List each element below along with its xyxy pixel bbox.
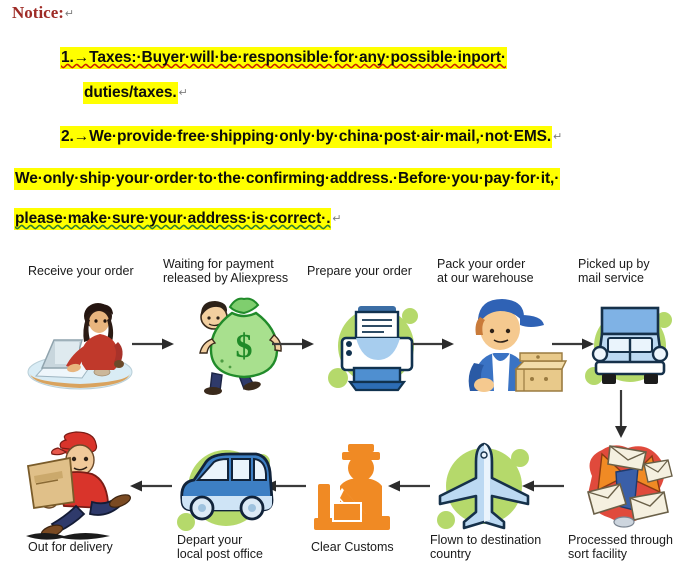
svg-text:$: $ <box>236 328 253 365</box>
notice-heading-text: Notice: <box>12 3 64 22</box>
delivery-runner-icon <box>14 432 134 542</box>
mail-sort-icon <box>572 436 678 536</box>
printer-icon <box>322 298 426 398</box>
flow-arrow-left-4 <box>128 480 172 492</box>
notice-line-1: 1.→Taxes:·Buyer·will·be·responsible·for·… <box>60 49 507 67</box>
notice-line-4-text: We·only·ship·your·order·to·the·confirmin… <box>14 168 560 190</box>
shipping-process-flowchart: Receive your order Waiting for payment r… <box>0 250 685 586</box>
flow-label-clear-customs: Clear Customs <box>311 540 421 554</box>
flow-label-depart-local-post-office: Depart your local post office <box>177 533 297 561</box>
airplane-icon <box>432 438 536 538</box>
pilcrow-mark-2: ↵ <box>179 87 188 99</box>
flow-label-processed-sort-facility: Processed through sort facility <box>568 533 685 561</box>
notice-line-2-text: duties/taxes. <box>83 82 178 104</box>
pilcrow-mark: ↵ <box>65 8 74 20</box>
notice-line-4: We·only·ship·your·order·to·the·confirmin… <box>14 170 560 188</box>
flow-label-out-for-delivery: Out for delivery <box>28 540 148 554</box>
notice-line-3-text: 2.→We·provide·free·shipping·only·by·chin… <box>60 126 552 148</box>
flow-arrow-right-1 <box>132 338 174 350</box>
flow-arrow-right-3 <box>412 338 454 350</box>
flow-arrow-right-2 <box>272 338 314 350</box>
notice-line-5-text: please·make·sure·your·address·is·correct… <box>14 208 331 230</box>
notice-heading: Notice:↵ <box>12 3 74 23</box>
notice-line-1-text: 1.→Taxes:·Buyer·will·be·responsible·for·… <box>60 47 507 69</box>
pilcrow-mark-4: ↵ <box>332 213 341 225</box>
pilcrow-mark-3: ↵ <box>553 131 562 143</box>
flow-label-prepare-your-order: Prepare your order <box>307 264 432 278</box>
van-icon <box>170 440 280 540</box>
person-at-computer-icon <box>22 302 140 394</box>
flow-label-receive-your-order: Receive your order <box>28 264 153 278</box>
flow-label-pack-your-order: Pack your order at our warehouse <box>437 257 567 285</box>
notice-line-3: 2.→We·provide·free·shipping·only·by·chin… <box>60 128 562 146</box>
notice-block: Notice:↵ 1.→Taxes:·Buyer·will·be·respons… <box>0 0 685 250</box>
flow-label-flown-to-destination: Flown to destination country <box>430 533 565 561</box>
notice-line-2: duties/taxes.↵ <box>83 84 188 102</box>
truck-icon <box>580 298 680 398</box>
notice-line-5: please·make·sure·your·address·is·correct… <box>14 210 342 228</box>
flow-arrow-down-connector <box>613 390 629 438</box>
customs-officer-icon <box>310 440 400 538</box>
flow-label-picked-up-by-mail-service: Picked up by mail service <box>578 257 683 285</box>
warehouse-worker-icon <box>456 295 566 395</box>
flow-label-waiting-for-payment: Waiting for payment released by Aliexpre… <box>163 257 298 285</box>
